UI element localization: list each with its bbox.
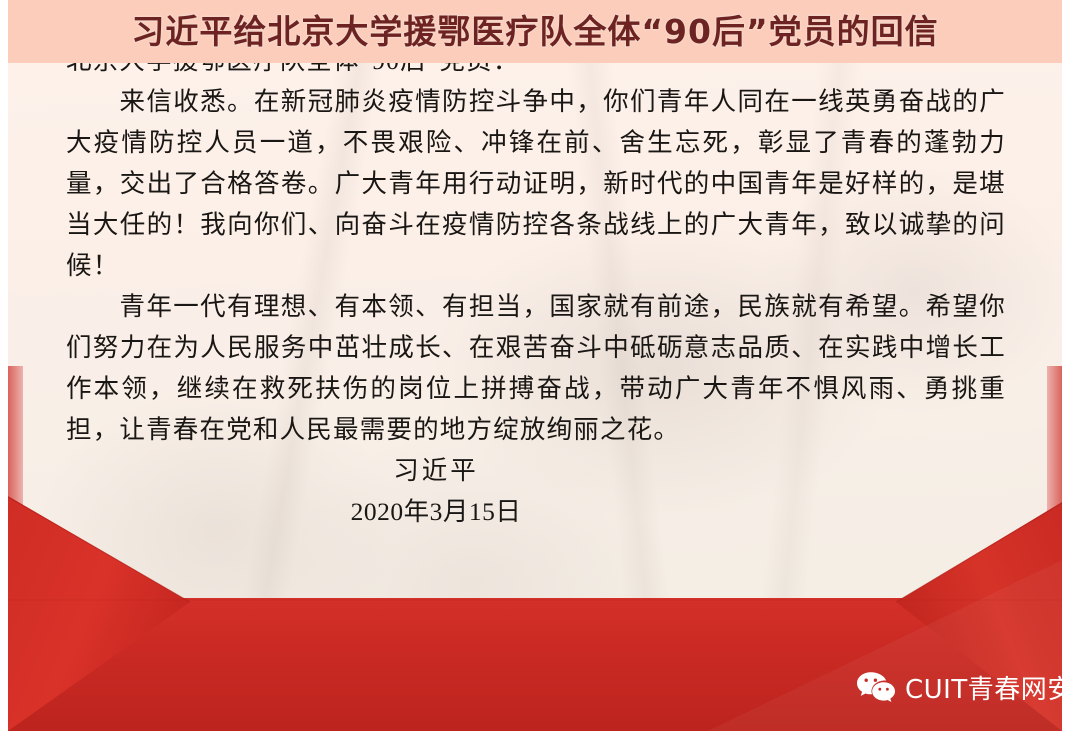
letter-signature: 习近平: [66, 450, 1006, 491]
letter-date: 2020年3月15日: [66, 491, 1006, 532]
page-title: 习近平给北京大学援鄂医疗队全体“90后”党员的回信: [8, 0, 1062, 63]
poster-root: 北京大学援鄂医疗队全体“90后”党员： 来信收悉。在新冠肺炎疫情防控斗争中，你们…: [0, 0, 1080, 731]
wechat-account-badge[interactable]: CUIT青春网安: [856, 669, 1062, 706]
letter-paragraph-2: 青年一代有理想、有本领、有担当，国家就有前途，民族就有希望。希望你们努力在为人民…: [66, 286, 1006, 450]
letter-paragraph-1: 来信收悉。在新冠肺炎疫情防控斗争中，你们青年人同在一线英勇奋战的广大疫情防控人员…: [66, 81, 1006, 286]
wechat-icon: [856, 671, 896, 705]
wechat-account-name: CUIT青春网安: [905, 669, 1062, 706]
letter-body: 北京大学援鄂医疗队全体“90后”党员： 来信收悉。在新冠肺炎疫情防控斗争中，你们…: [66, 40, 1006, 532]
header-band: 习近平给北京大学援鄂医疗队全体“90后”党员的回信: [8, 0, 1062, 63]
poster-page: 北京大学援鄂医疗队全体“90后”党员： 来信收悉。在新冠肺炎疫情防控斗争中，你们…: [8, 0, 1062, 731]
